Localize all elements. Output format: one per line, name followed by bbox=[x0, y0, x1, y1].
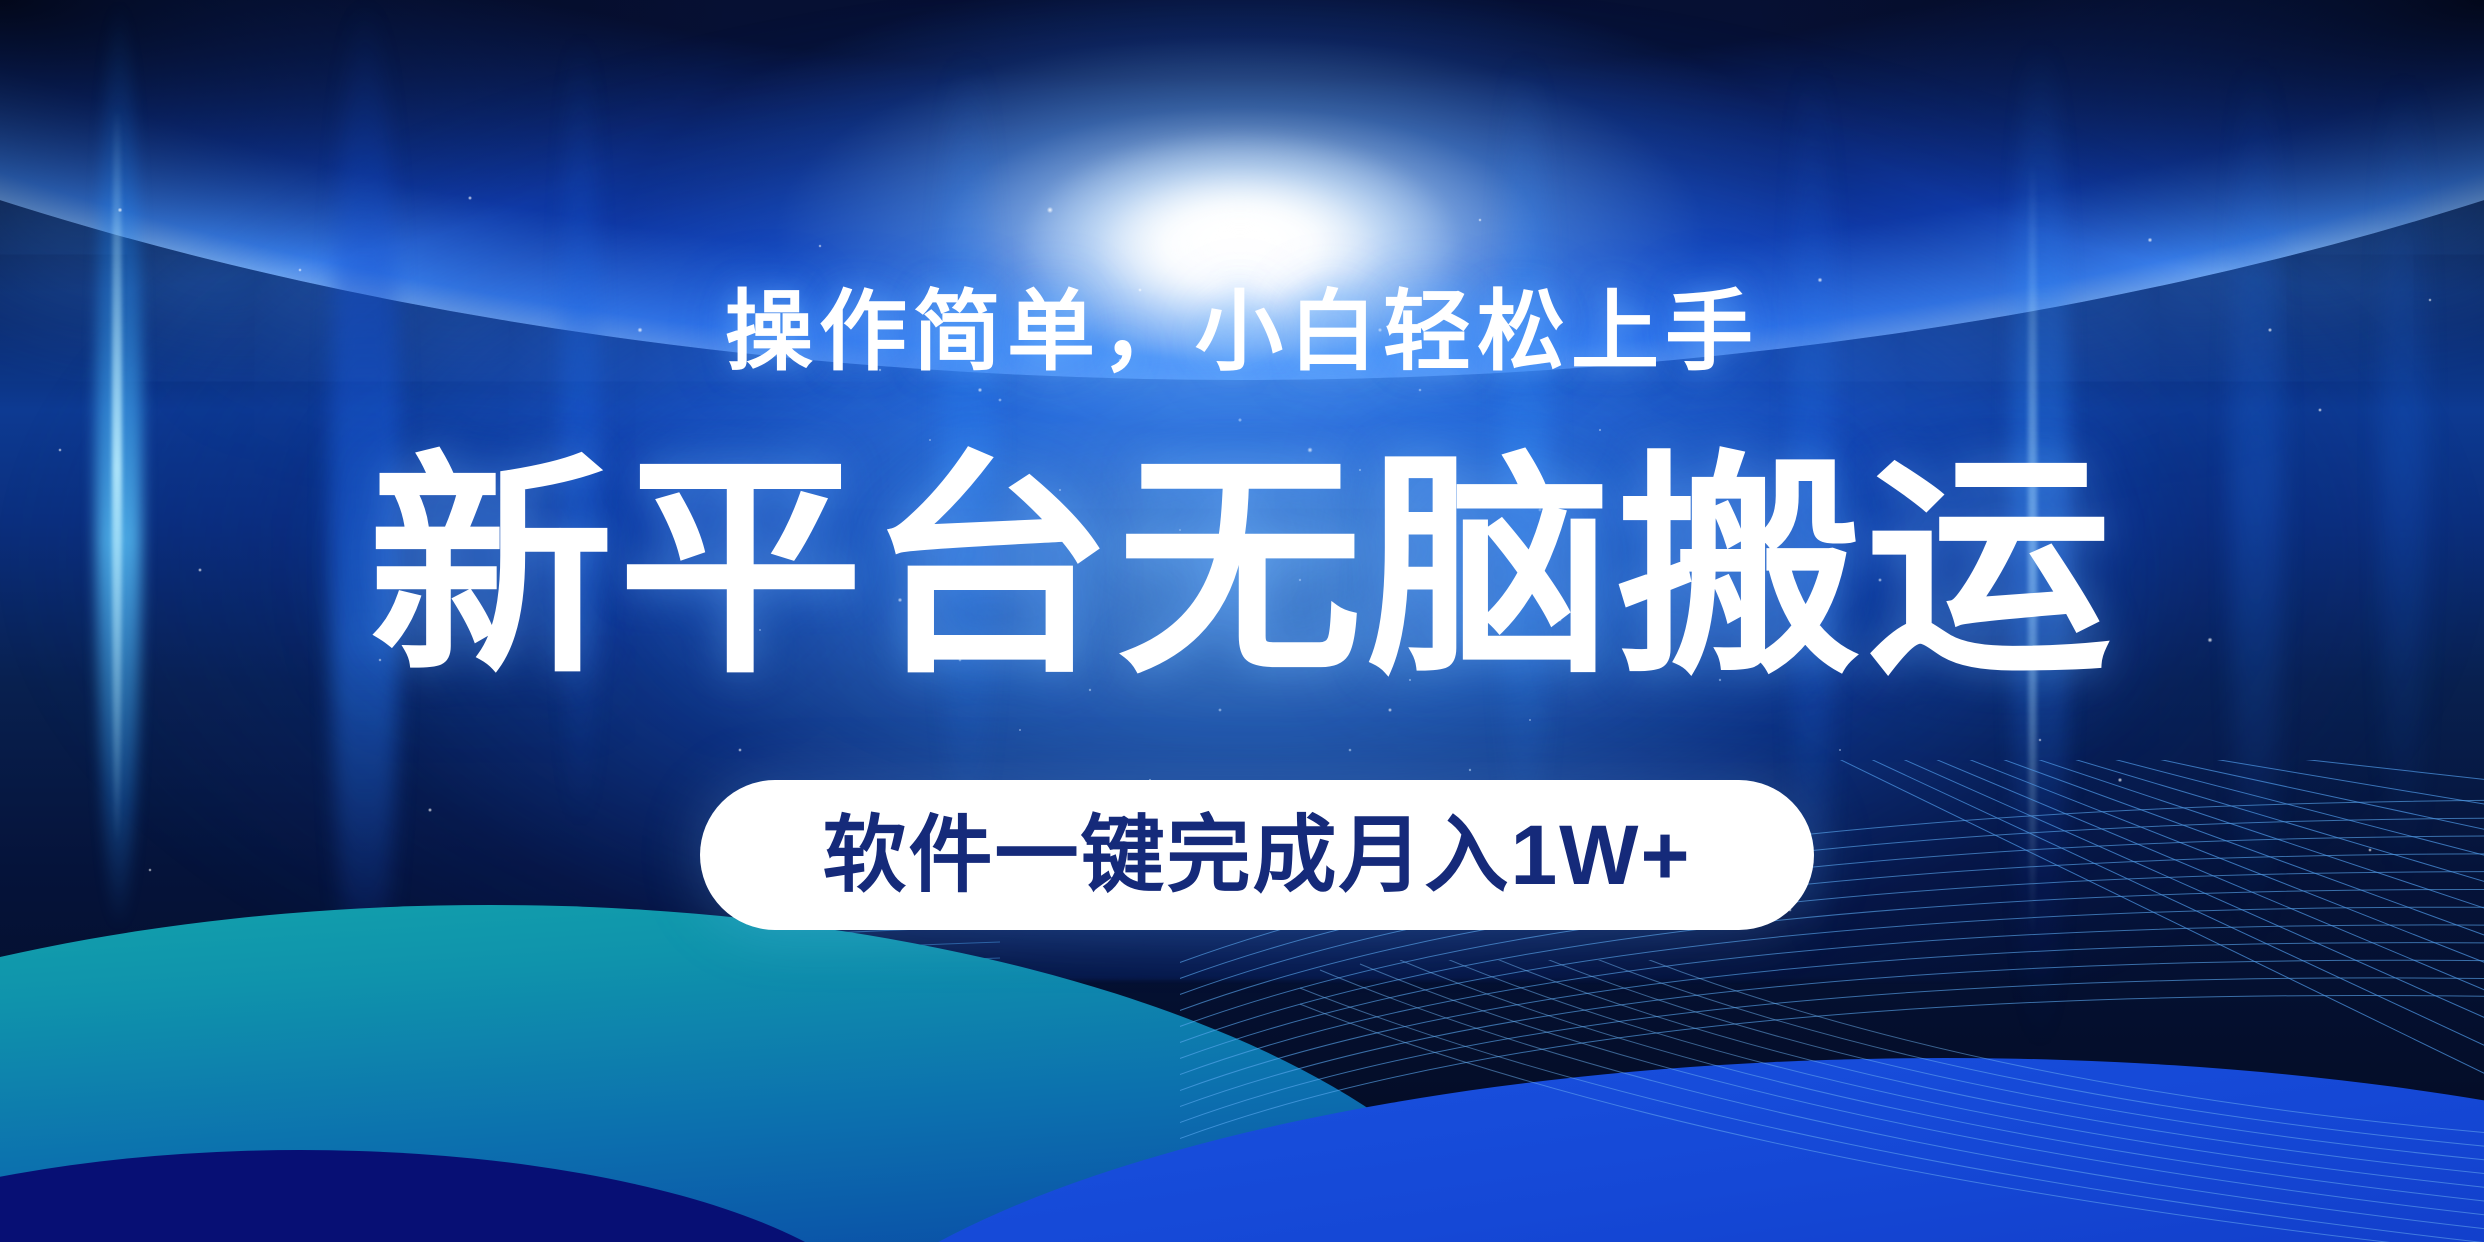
subtitle-text: 操作简单，小白轻松上手 bbox=[0, 288, 2484, 376]
promo-banner: 操作简单，小白轻松上手 新平台无脑搬运 软件一键完成月入1W+ bbox=[0, 0, 2484, 1242]
cta-label: 软件一键完成月入1W+ bbox=[822, 813, 1691, 897]
cta-pill[interactable]: 软件一键完成月入1W+ bbox=[700, 780, 1814, 930]
headline-text: 新平台无脑搬运 bbox=[0, 440, 2484, 700]
